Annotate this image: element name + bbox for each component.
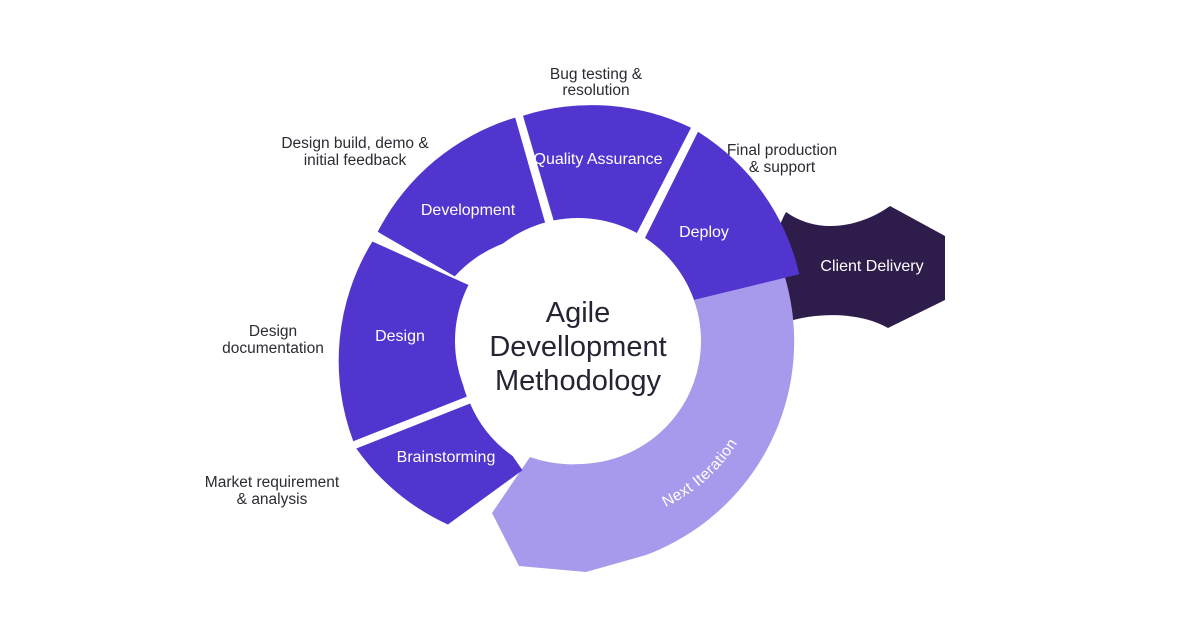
diagram-canvas: Client Delivery Next Iteration Developme… — [0, 0, 1200, 627]
callout-design-documentation-line-2: documentation — [222, 340, 324, 357]
segment-quality-assurance-label: Quality Assurance — [534, 151, 663, 168]
callout-design-build-line-1: Design build, demo & — [281, 135, 429, 152]
callout-final-production-line-1: Final production — [727, 142, 837, 159]
center-title-line-2: Devellopment — [489, 331, 666, 363]
callout-design-documentation: Design documentation — [222, 323, 324, 357]
segment-brainstorming-label: Brainstorming — [397, 449, 496, 466]
callout-design-documentation-line-1: Design — [249, 323, 297, 340]
callout-design-build-line-2: initial feedback — [304, 152, 407, 169]
center-hub: Agile Devellopment Methodology — [455, 218, 701, 464]
callout-bug-testing: Bug testing & resolution — [550, 66, 643, 99]
callout-design-build: Design build, demo & initial feedback — [281, 135, 429, 169]
segment-design-label: Design — [375, 328, 425, 345]
callout-market-requirement: Market requirement & analysis — [205, 474, 340, 508]
agile-methodology-diagram: Client Delivery Next Iteration Developme… — [0, 0, 1200, 627]
client-delivery-label: Client Delivery — [820, 258, 923, 275]
callout-market-requirement-line-1: Market requirement — [205, 474, 340, 491]
callout-bug-testing-line-1: Bug testing & — [550, 66, 643, 83]
client-delivery-node[interactable]: Client Delivery — [773, 206, 946, 328]
segment-development-label: Development — [421, 202, 516, 219]
segment-deploy-label: Deploy — [679, 224, 729, 241]
center-title-line-3: Methodology — [495, 365, 662, 397]
callout-bug-testing-line-2: resolution — [562, 82, 629, 99]
callout-final-production-line-2: & support — [749, 159, 816, 176]
callout-market-requirement-line-2: & analysis — [237, 491, 308, 508]
center-title-line-1: Agile — [546, 297, 611, 329]
